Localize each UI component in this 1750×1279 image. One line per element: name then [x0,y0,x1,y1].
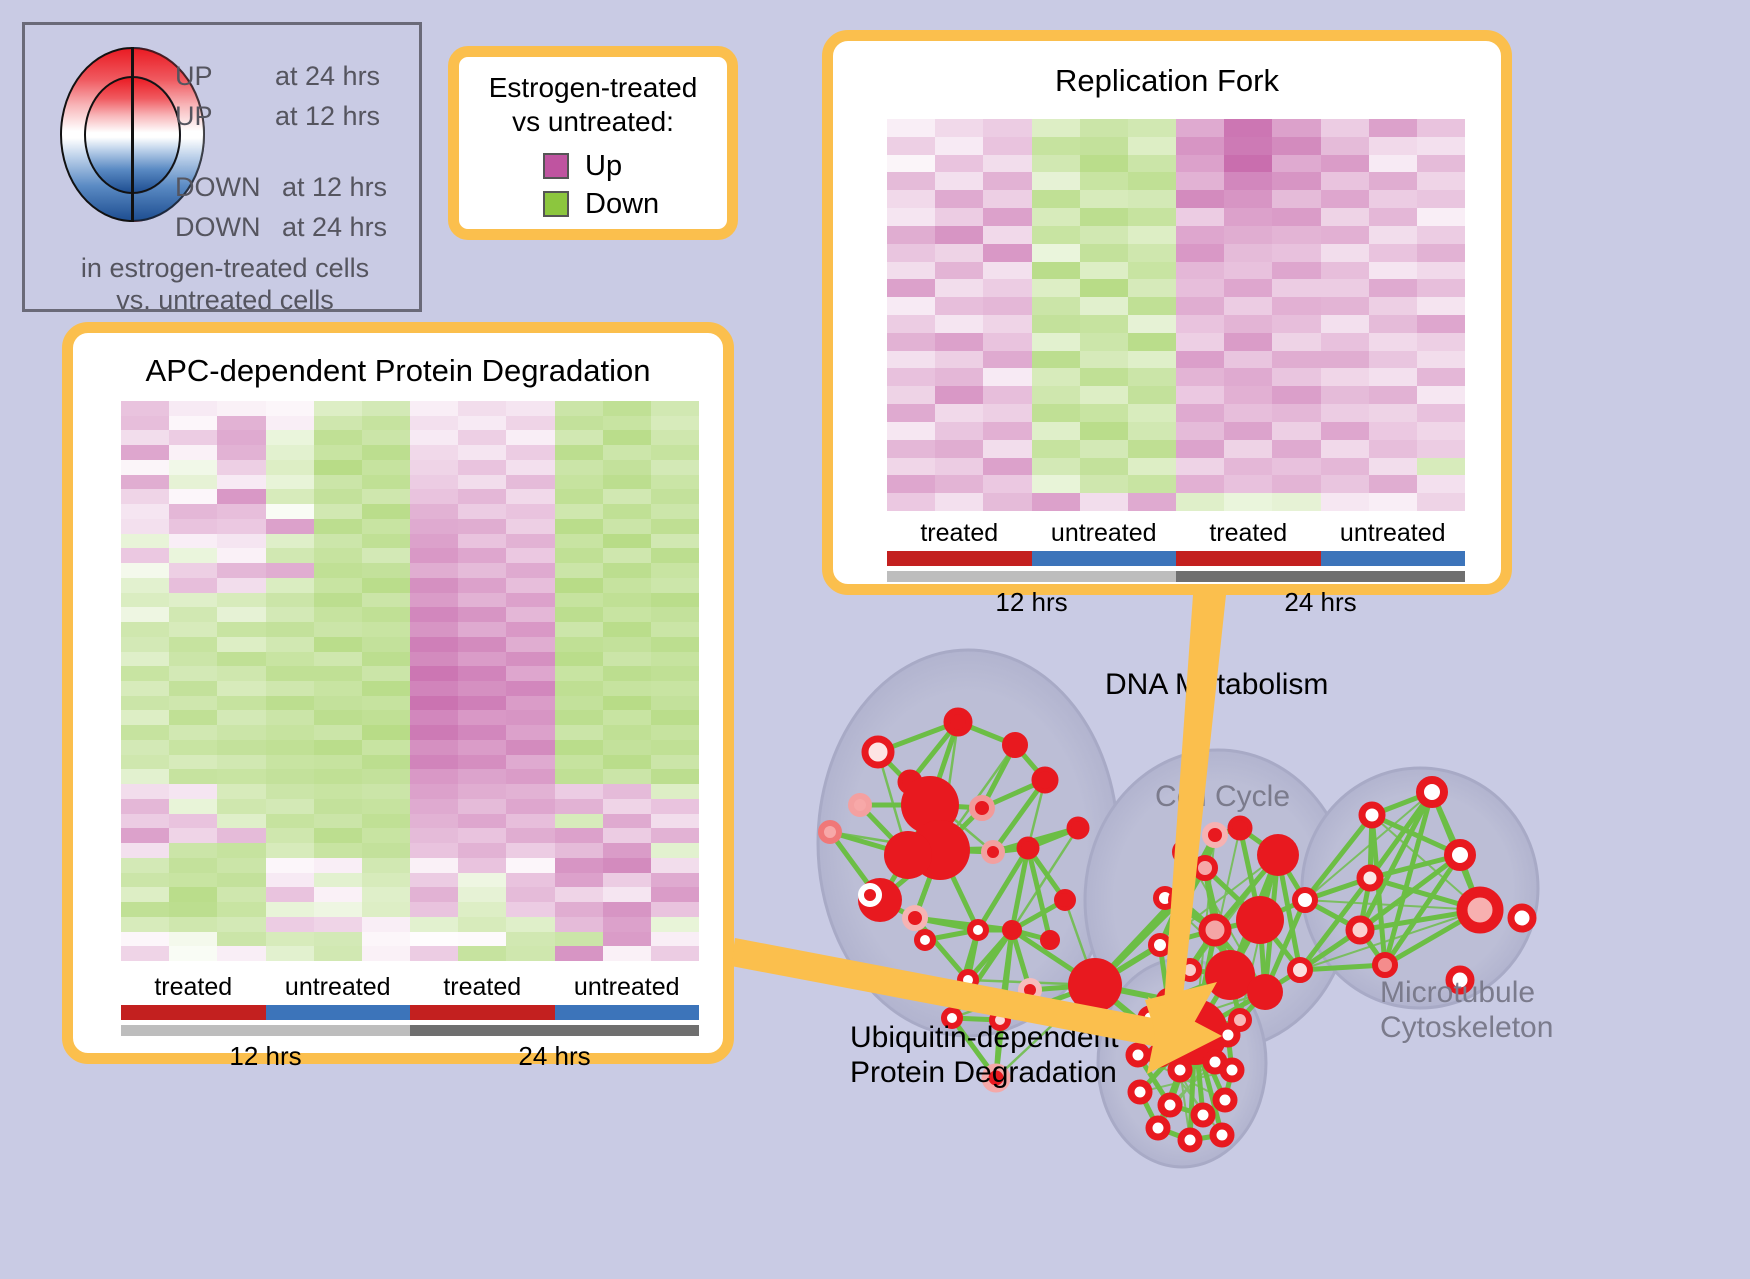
heatmap-cell [983,458,1031,476]
heatmap-cell [651,843,699,858]
heatmap-cell [266,887,314,902]
heatmap-cell [169,858,217,873]
heatmap-cell [651,578,699,593]
heatmap-cell [1272,244,1320,262]
heatmap-cell [1417,208,1465,226]
heatmap-cell [410,814,458,829]
heatmap-cell [1224,351,1272,369]
heatmap-cell [1417,190,1465,208]
ring-divider [131,47,134,222]
heatmap-cell [651,902,699,917]
sample-label-1: untreated [1032,519,1177,548]
heatmap-cell [1224,386,1272,404]
heatmap-cell [555,784,603,799]
heatmap-cell [603,710,651,725]
heatmap-cell [1080,440,1128,458]
heatmap-cell [1224,279,1272,297]
heatmap-cell [887,493,935,511]
heatmap-cell [506,475,554,490]
heatmap-cell [651,769,699,784]
heatmap-cell [983,493,1031,511]
heatmap-cell [651,755,699,770]
heatmap-cell [169,504,217,519]
rf-sample-labels: treateduntreatedtreateduntreated [887,519,1465,548]
heatmap-cell [217,607,265,622]
heatmap-cell [1080,315,1128,333]
heatmap-cell [410,843,458,858]
heatmap-cell [1417,333,1465,351]
time-label-1: 24 hrs [410,1041,699,1072]
heatmap-cell [603,814,651,829]
heatmap-cell [1224,368,1272,386]
heatmap-cell [1272,190,1320,208]
heatmap-cell [314,666,362,681]
replication-fork-panel: Replication Fork treateduntreatedtreated… [822,30,1512,595]
heatmap-cell [121,725,169,740]
heatmap-cell [217,755,265,770]
heatmap-cell [935,440,983,458]
heatmap-cell [266,814,314,829]
heatmap-cell [1032,458,1080,476]
heatmap-cell [506,946,554,961]
heatmap-cell [603,430,651,445]
heatmap-cell [458,563,506,578]
heatmap-cell [169,563,217,578]
heatmap-cell [1176,386,1224,404]
heatmap-cell [169,622,217,637]
heatmap-cell [169,873,217,888]
heatmap-cell [651,946,699,961]
heatmap-cell [1272,475,1320,493]
heatmap-cell [266,401,314,416]
heatmap-cell [555,607,603,622]
heatmap-cell [314,637,362,652]
heatmap-cell [169,710,217,725]
heatmap-cell [1080,351,1128,369]
heatmap-cell [217,445,265,460]
heatmap-cell [458,902,506,917]
heatmap-cell [887,244,935,262]
heatmap-cell [1417,315,1465,333]
legend-swatch-up [543,153,569,179]
heatmap-cell [217,873,265,888]
heatmap-cell [935,244,983,262]
heatmap-cell [410,740,458,755]
heatmap-cell [1176,155,1224,173]
heatmap-cell [410,607,458,622]
heatmap-cell [362,799,410,814]
heatmap-cell [410,666,458,681]
heatmap-cell [1369,440,1417,458]
heatmap-cell [506,416,554,431]
heatmap-cell [362,475,410,490]
heatmap-cell [169,460,217,475]
heatmap-cell [935,172,983,190]
heatmap-cell [506,652,554,667]
heatmap-cell [362,489,410,504]
heatmap-cell [1417,368,1465,386]
heatmap-cell [314,799,362,814]
heatmap-cell [1369,475,1417,493]
heatmap-cell [362,416,410,431]
heatmap-cell [266,666,314,681]
heatmap-cell [362,887,410,902]
heatmap-cell [506,769,554,784]
heatmap-cell [555,946,603,961]
heatmap-cell [1032,386,1080,404]
heatmap-cell [1321,226,1369,244]
heatmap-cell [1321,458,1369,476]
heatmap-cell [1128,244,1176,262]
heatmap-cell [362,828,410,843]
heatmap-cell [362,666,410,681]
heatmap-cell [458,475,506,490]
heatmap-cell [555,696,603,711]
heatmap-cell [555,622,603,637]
heatmap-cell [266,445,314,460]
heatmap-cell [651,430,699,445]
heatmap-cell [169,769,217,784]
heatmap-cell [169,932,217,947]
heatmap-cell [1417,458,1465,476]
heatmap-cell [266,607,314,622]
colour-key-footer-line2: vs. untreated cells [25,285,425,317]
heatmap-cell [1321,155,1369,173]
heatmap-cell [266,416,314,431]
heatmap-cell [651,637,699,652]
heatmap-cell [555,902,603,917]
heatmap-cell [121,873,169,888]
heatmap-cell [314,460,362,475]
heatmap-cell [1321,119,1369,137]
heatmap-cell [651,740,699,755]
heatmap-cell [458,519,506,534]
heatmap-cell [362,843,410,858]
heatmap-cell [121,475,169,490]
heatmap-cell [362,917,410,932]
heatmap-cell [458,799,506,814]
sample-label-0: treated [121,973,266,1002]
heatmap-cell [603,489,651,504]
heatmap-cell [362,902,410,917]
heatmap-cell [1369,404,1417,422]
heatmap-cell [1176,440,1224,458]
heatmap-cell [1032,368,1080,386]
heatmap-cell [314,725,362,740]
heatmap-cell [217,401,265,416]
heatmap-cell [266,917,314,932]
heatmap-cell [314,814,362,829]
heatmap-cell [651,814,699,829]
heatmap-cell [410,578,458,593]
heatmap-cell [1176,475,1224,493]
heatmap-cell [121,578,169,593]
heatmap-cell [1272,172,1320,190]
heatmap-cell [410,873,458,888]
heatmap-cell [506,710,554,725]
heatmap-cell [362,873,410,888]
heatmap-cell [314,652,362,667]
heatmap-cell [1369,351,1417,369]
heatmap-cell [1080,190,1128,208]
heatmap-cell [1321,422,1369,440]
heatmap-cell [410,858,458,873]
heatmap-cell [555,460,603,475]
heatmap-cell [1224,440,1272,458]
heatmap-cell [169,784,217,799]
heatmap-cell [1032,493,1080,511]
heatmap-cell [266,475,314,490]
heatmap-cell [1176,333,1224,351]
heatmap-cell [1417,244,1465,262]
heatmap-cell [458,710,506,725]
heatmap-cell [169,534,217,549]
heatmap-cell [217,489,265,504]
heatmap-cell [887,279,935,297]
heatmap-cell [1224,226,1272,244]
heatmap-cell [314,445,362,460]
heatmap-cell [651,504,699,519]
heatmap-cell [266,622,314,637]
heatmap-cell [1321,333,1369,351]
heatmap-cell [555,578,603,593]
figure-canvas: UP at 24 hrs UP at 12 hrs DOWN at 12 hrs… [0,0,1750,1279]
heatmap-cell [555,519,603,534]
heatmap-cell [506,519,554,534]
heatmap-cell [1224,333,1272,351]
heatmap-cell [651,887,699,902]
heatmap-cell [217,843,265,858]
heatmap-cell [362,563,410,578]
heatmap-cell [217,725,265,740]
heatmap-cell [169,519,217,534]
heatmap-cell [983,386,1031,404]
heatmap-cell [887,208,935,226]
heatmap-cell [217,578,265,593]
heatmap-cell [887,422,935,440]
heatmap-cell [1032,208,1080,226]
heatmap-cell [1417,297,1465,315]
heatmap-cell [1224,404,1272,422]
heatmap-cell [1224,315,1272,333]
heatmap-cell [983,422,1031,440]
heatmap-cell [1032,155,1080,173]
heatmap-cell [217,563,265,578]
key-label-up-24: UP [175,61,213,92]
heatmap-cell [121,858,169,873]
heatmap-cell [410,710,458,725]
heatmap-cell [169,652,217,667]
legend-items: Up Down [543,147,659,223]
heatmap-cell [651,416,699,431]
heatmap-cell [1417,226,1465,244]
heatmap-cell [121,814,169,829]
heatmap-cell [1272,351,1320,369]
heatmap-cell [603,858,651,873]
heatmap-cell [217,740,265,755]
heatmap-cell [169,887,217,902]
apc-sample-labels: treateduntreatedtreateduntreated [121,973,699,1002]
heatmap-cell [314,902,362,917]
heatmap-cell [1080,475,1128,493]
heatmap-cell [935,119,983,137]
heatmap-cell [217,887,265,902]
heatmap-cell [217,814,265,829]
heatmap-cell [266,740,314,755]
heatmap-cell [121,784,169,799]
heatmap-cell [121,416,169,431]
heatmap-cell [555,401,603,416]
legend-title-line1: Estrogen-treated [459,71,727,105]
heatmap-cell [1080,404,1128,422]
heatmap-cell [410,548,458,563]
heatmap-cell [169,740,217,755]
heatmap-cell [217,519,265,534]
heatmap-cell [887,190,935,208]
heatmap-cell [1369,315,1417,333]
heatmap-cell [1272,119,1320,137]
heatmap-cell [1272,368,1320,386]
heatmap-cell [555,814,603,829]
heatmap-cell [458,755,506,770]
heatmap-cell [983,279,1031,297]
heatmap-cell [314,858,362,873]
heatmap-cell [555,430,603,445]
heatmap-cell [217,917,265,932]
heatmap-cell [458,445,506,460]
heatmap-cell [983,475,1031,493]
sample-label-1: untreated [266,973,411,1002]
cluster-label-dna-metabolism: DNA Metabolism [1105,668,1328,702]
heatmap-cell [506,887,554,902]
heatmap-cell [362,504,410,519]
heatmap-cell [651,593,699,608]
heatmap-cell [1176,172,1224,190]
time-segment-0 [121,1025,410,1036]
apc-time-bar [121,1025,699,1036]
heatmap-cell [1032,226,1080,244]
heatmap-cell [266,755,314,770]
heatmap-cell [362,622,410,637]
key-label-up-12: UP [175,101,213,132]
heatmap-cell [217,828,265,843]
heatmap-cell [1176,190,1224,208]
heatmap-cell [217,637,265,652]
heatmap-cell [506,401,554,416]
heatmap-cell [266,637,314,652]
heatmap-cell [410,563,458,578]
heatmap-cell [314,489,362,504]
heatmap-cell [1128,386,1176,404]
heatmap-cell [362,578,410,593]
colour-key-footer-line1: in estrogen-treated cells [25,253,425,285]
sample-label-2: treated [410,973,555,1002]
heatmap-cell [555,563,603,578]
heatmap-cell [1369,493,1417,511]
heatmap-cell [169,637,217,652]
heatmap-cell [1032,333,1080,351]
heatmap-cell [458,769,506,784]
heatmap-cell [651,858,699,873]
heatmap-cell [887,440,935,458]
heatmap-cell [266,843,314,858]
heatmap-cell [362,784,410,799]
heatmap-cell [1080,297,1128,315]
heatmap-cell [458,843,506,858]
cluster-label-ubiquitin-line1: Ubiquitin-dependent [850,1020,1119,1055]
heatmap-cell [935,404,983,422]
heatmap-cell [651,519,699,534]
condition-segment-2 [1176,551,1321,566]
apc-title: APC-dependent Protein Degradation [73,353,723,389]
heatmap-cell [1272,226,1320,244]
heatmap-cell [266,858,314,873]
heatmap-cell [169,666,217,681]
heatmap-cell [1176,493,1224,511]
colour-key-footer: in estrogen-treated cells vs. untreated … [25,253,425,317]
heatmap-cell [651,445,699,460]
heatmap-cell [1128,262,1176,280]
heatmap-cell [983,119,1031,137]
heatmap-cell [266,946,314,961]
heatmap-cell [1417,404,1465,422]
heatmap-cell [169,814,217,829]
heatmap-cell [651,548,699,563]
heatmap-cell [410,902,458,917]
heatmap-cell [506,563,554,578]
heatmap-cell [603,784,651,799]
heatmap-cell [169,902,217,917]
heatmap-cell [458,489,506,504]
heatmap-cell [603,652,651,667]
heatmap-cell [217,652,265,667]
heatmap-cell [1369,155,1417,173]
apc-condition-bar [121,1005,699,1020]
heatmap-cell [935,208,983,226]
heatmap-cell [603,755,651,770]
heatmap-cell [217,858,265,873]
heatmap-cell [1032,244,1080,262]
heatmap-cell [314,416,362,431]
heatmap-cell [1417,119,1465,137]
heatmap-cell [555,534,603,549]
heatmap-cell [362,593,410,608]
heatmap-cell [651,873,699,888]
heatmap-cell [603,622,651,637]
heatmap-cell [1224,262,1272,280]
heatmap-cell [314,828,362,843]
heatmap-cell [506,504,554,519]
heatmap-cell [362,769,410,784]
heatmap-cell [266,593,314,608]
heatmap-cell [169,917,217,932]
heatmap-cell [603,504,651,519]
heatmap-cell [314,475,362,490]
heatmap-cell [1128,333,1176,351]
heatmap-cell [266,873,314,888]
heatmap-cell [458,740,506,755]
heatmap-cell [887,297,935,315]
heatmap-cell [169,445,217,460]
heatmap-cell [410,652,458,667]
heatmap-cell [121,593,169,608]
heatmap-cell [362,534,410,549]
heatmap-cell [169,489,217,504]
heatmap-cell [169,578,217,593]
heatmap-cell [1032,190,1080,208]
heatmap-cell [217,622,265,637]
heatmap-cell [217,696,265,711]
